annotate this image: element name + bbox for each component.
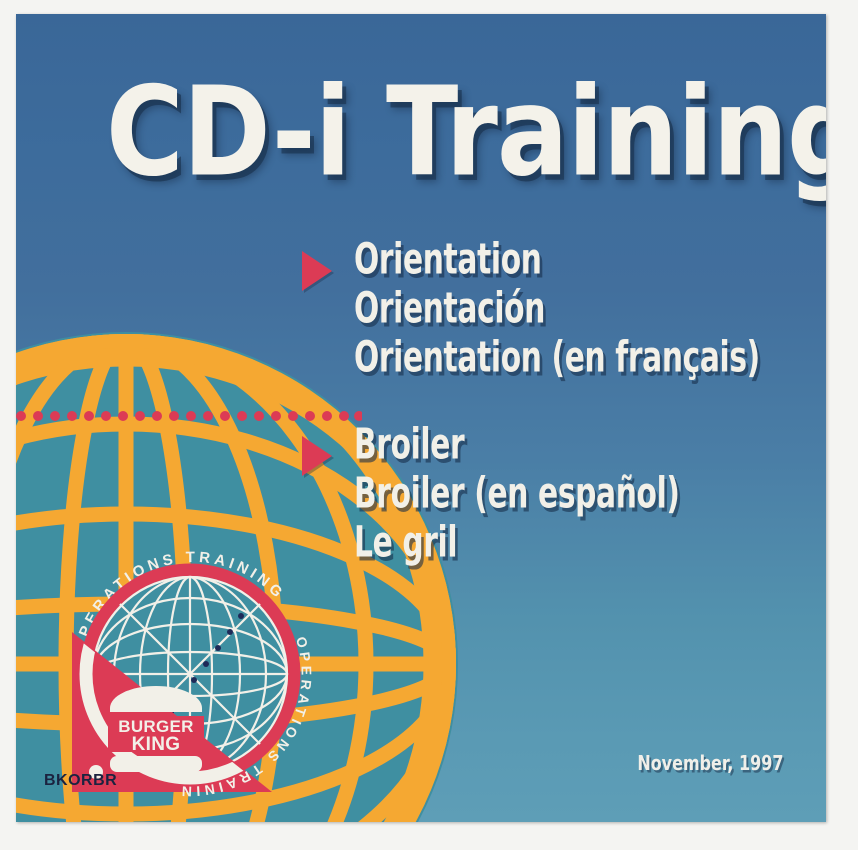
menu-item[interactable]: Orientación xyxy=(354,286,775,329)
menu-item[interactable]: Le gril xyxy=(354,520,775,563)
menu-group-broiler: Broiler Broiler (en español) Le gril xyxy=(302,427,822,558)
emblem-brand-line-2: KING xyxy=(132,734,181,755)
title-menu: Orientation Orientación Orientation (en … xyxy=(302,242,822,558)
burger-king-operations-training-logo: OPERATIONS TRAINING xyxy=(58,524,318,804)
catalog-code: BKORBR xyxy=(44,772,117,790)
menu-item[interactable]: Orientation (en français) xyxy=(354,335,775,378)
cd-sleeve-artwork: CD-i Training Orientation Orientación Or… xyxy=(0,0,858,850)
disc-cover-panel: CD-i Training Orientation Orientación Or… xyxy=(16,14,826,822)
triangle-right-icon xyxy=(302,436,332,476)
menu-item[interactable]: Broiler xyxy=(354,422,775,465)
triangle-right-icon xyxy=(302,251,332,291)
page-title: CD-i Training xyxy=(106,70,786,195)
menu-item[interactable]: Broiler (en español) xyxy=(354,471,775,514)
menu-item[interactable]: Orientation xyxy=(354,237,775,280)
menu-group-orientation: Orientation Orientación Orientation (en … xyxy=(302,242,822,373)
release-date: November, 1997 xyxy=(638,752,784,776)
